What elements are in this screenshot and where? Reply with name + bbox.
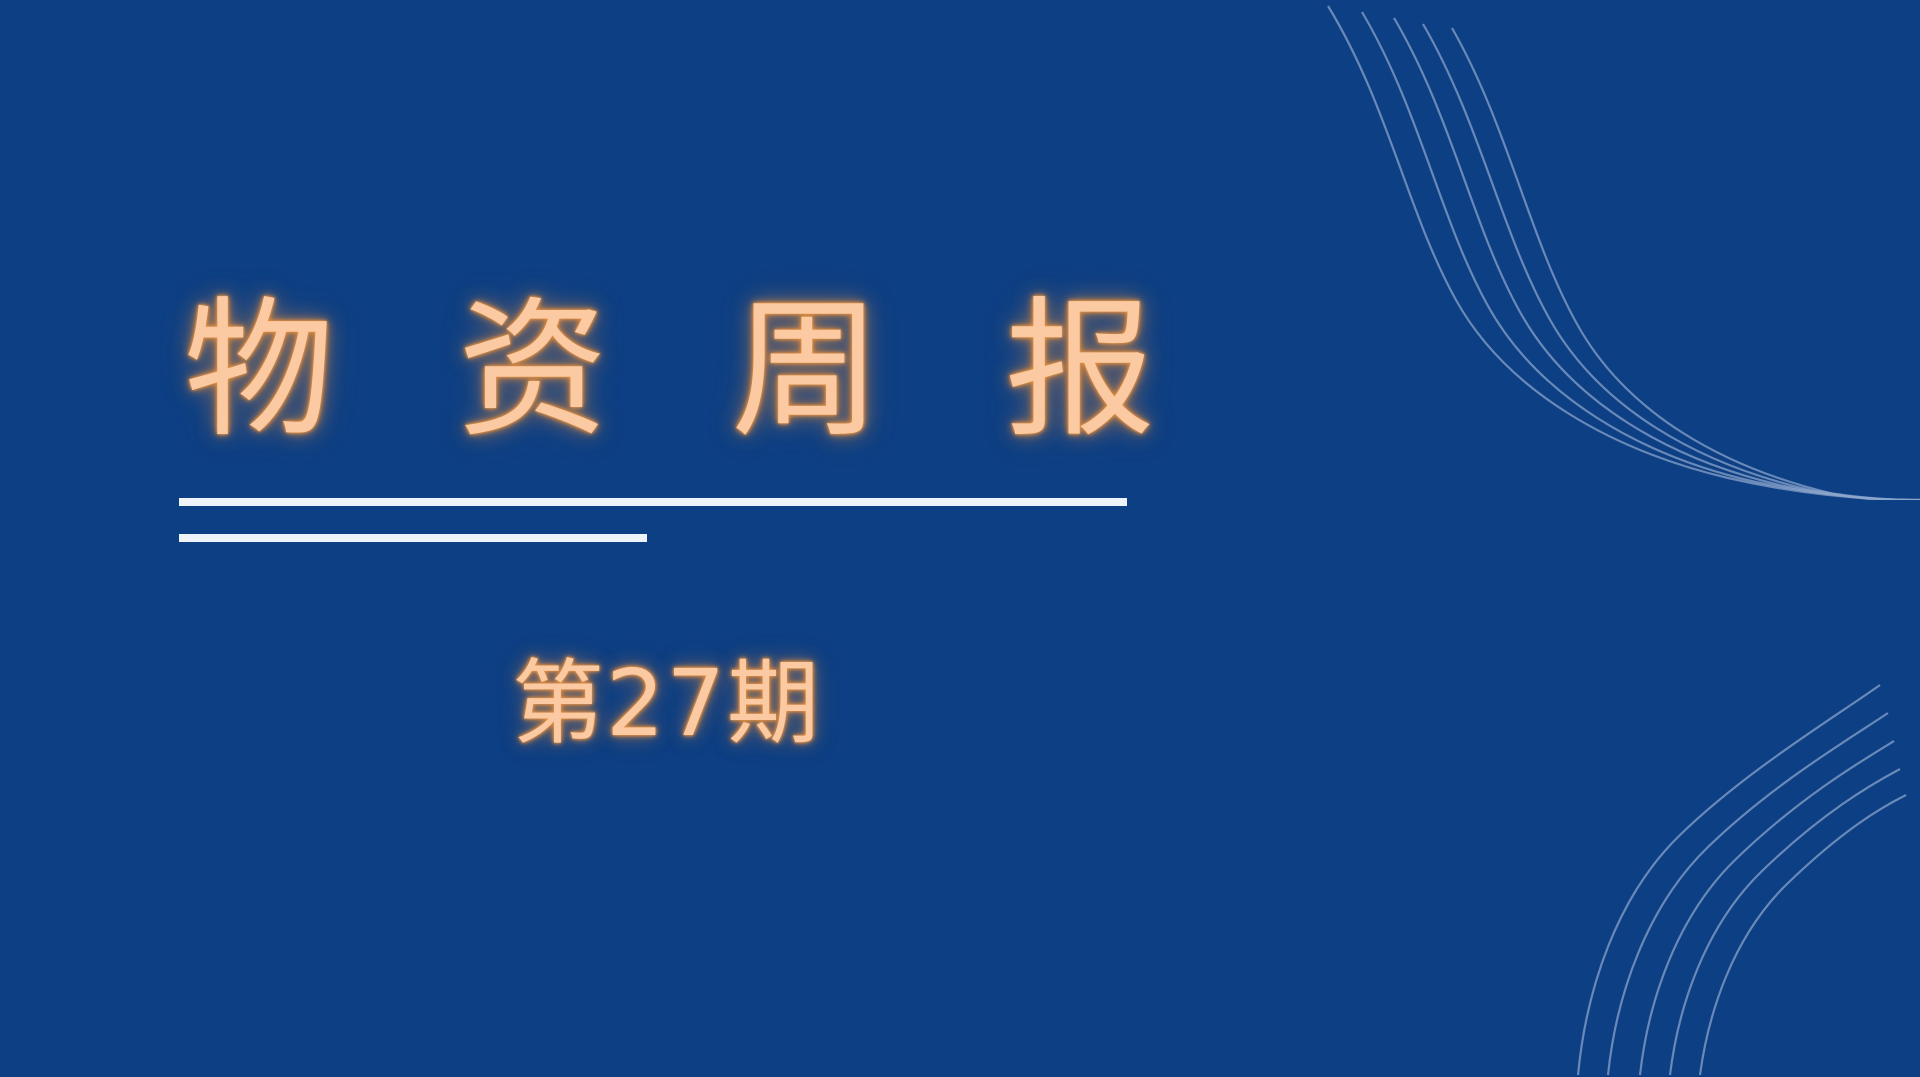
curve-line-5 (1452, 28, 1920, 500)
curve-line-3 (1640, 741, 1894, 1075)
curve-line-4 (1670, 769, 1900, 1075)
title-underline-short (179, 534, 647, 542)
curve-line-5 (1700, 795, 1906, 1075)
title-block: 物 资 周 报 (178, 290, 1178, 452)
curve-line-1 (1578, 685, 1880, 1075)
curve-line-3 (1394, 18, 1920, 500)
issue-subtitle: 第27期 (512, 652, 821, 755)
title-underline-long (179, 498, 1127, 506)
page-title: 物 资 周 报 (178, 290, 1178, 452)
cover-slide: 物 资 周 报 第27期 (0, 0, 1920, 1077)
top-right-curved-lines-decoration (1280, 0, 1920, 500)
curve-line-2 (1608, 713, 1888, 1075)
curve-line-1 (1328, 6, 1920, 500)
curve-line-4 (1423, 24, 1920, 500)
bottom-right-curved-lines-decoration (1280, 597, 1920, 1077)
curve-line-2 (1362, 12, 1920, 500)
